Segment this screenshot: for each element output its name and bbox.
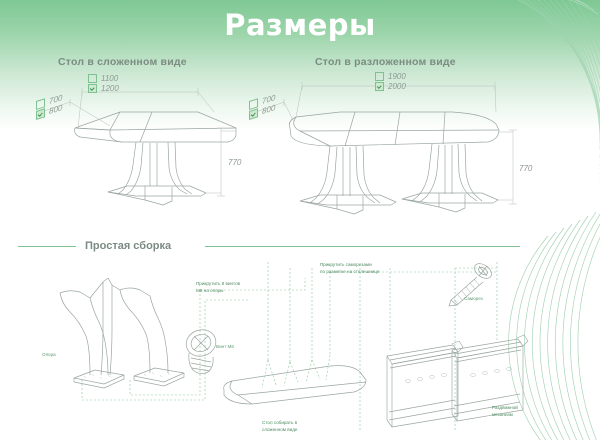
assembly-drawings	[0, 0, 600, 440]
note-attach-screws-to-supports: Прикрутить 8 винтов М6 на опоры	[196, 281, 240, 295]
label-screw-m6: Винт М6	[216, 344, 234, 351]
label-support: Опора	[42, 352, 56, 359]
diagram-sheet: Размеры Стол в сложенном виде Стол в раз…	[0, 0, 600, 440]
note-assemble-folded: Стол собирать в сложенном виде	[262, 420, 297, 434]
label-screw-self-tapping: Саморез	[464, 296, 483, 303]
note-attach-self-tapping-screws: Прикрутить саморезами по разметке на сто…	[320, 262, 379, 276]
label-sliding-mechanism: Раздвижной механизм	[492, 405, 518, 419]
